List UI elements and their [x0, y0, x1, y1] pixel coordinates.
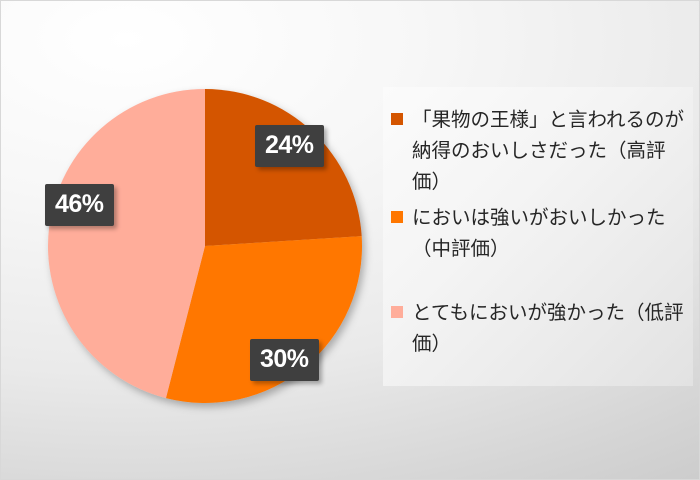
- legend-swatch-icon-mid: [391, 211, 403, 223]
- pie-data-label-high: 24%: [255, 125, 324, 167]
- legend-item-mid[interactable]: においは強いがおいしかった（中評価）: [391, 203, 687, 265]
- legend-label-high: 「果物の王様」と言われるのが納得のおいしさだった（高評価）: [412, 105, 687, 198]
- pie-data-label-low: 46%: [45, 184, 114, 226]
- legend-swatch-icon-low: [391, 306, 403, 318]
- pie-chart-canvas: 24% 30% 46% 「果物の王様」と言われるのが納得のおいしさだった（高評価…: [0, 0, 700, 480]
- pie-data-label-mid: 30%: [250, 339, 319, 381]
- legend-item-low[interactable]: とてもにおいが強かった（低評価）: [391, 298, 687, 360]
- legend-item-high[interactable]: 「果物の王様」と言われるのが納得のおいしさだった（高評価）: [391, 105, 687, 198]
- legend-label-mid: においは強いがおいしかった（中評価）: [412, 203, 687, 265]
- legend-label-low: とてもにおいが強かった（低評価）: [412, 298, 687, 360]
- legend-panel: 「果物の王様」と言われるのが納得のおいしさだった（高評価） においは強いがおいし…: [383, 87, 693, 386]
- pie-slice[interactable]: [205, 89, 362, 246]
- legend-swatch-icon-high: [391, 113, 403, 125]
